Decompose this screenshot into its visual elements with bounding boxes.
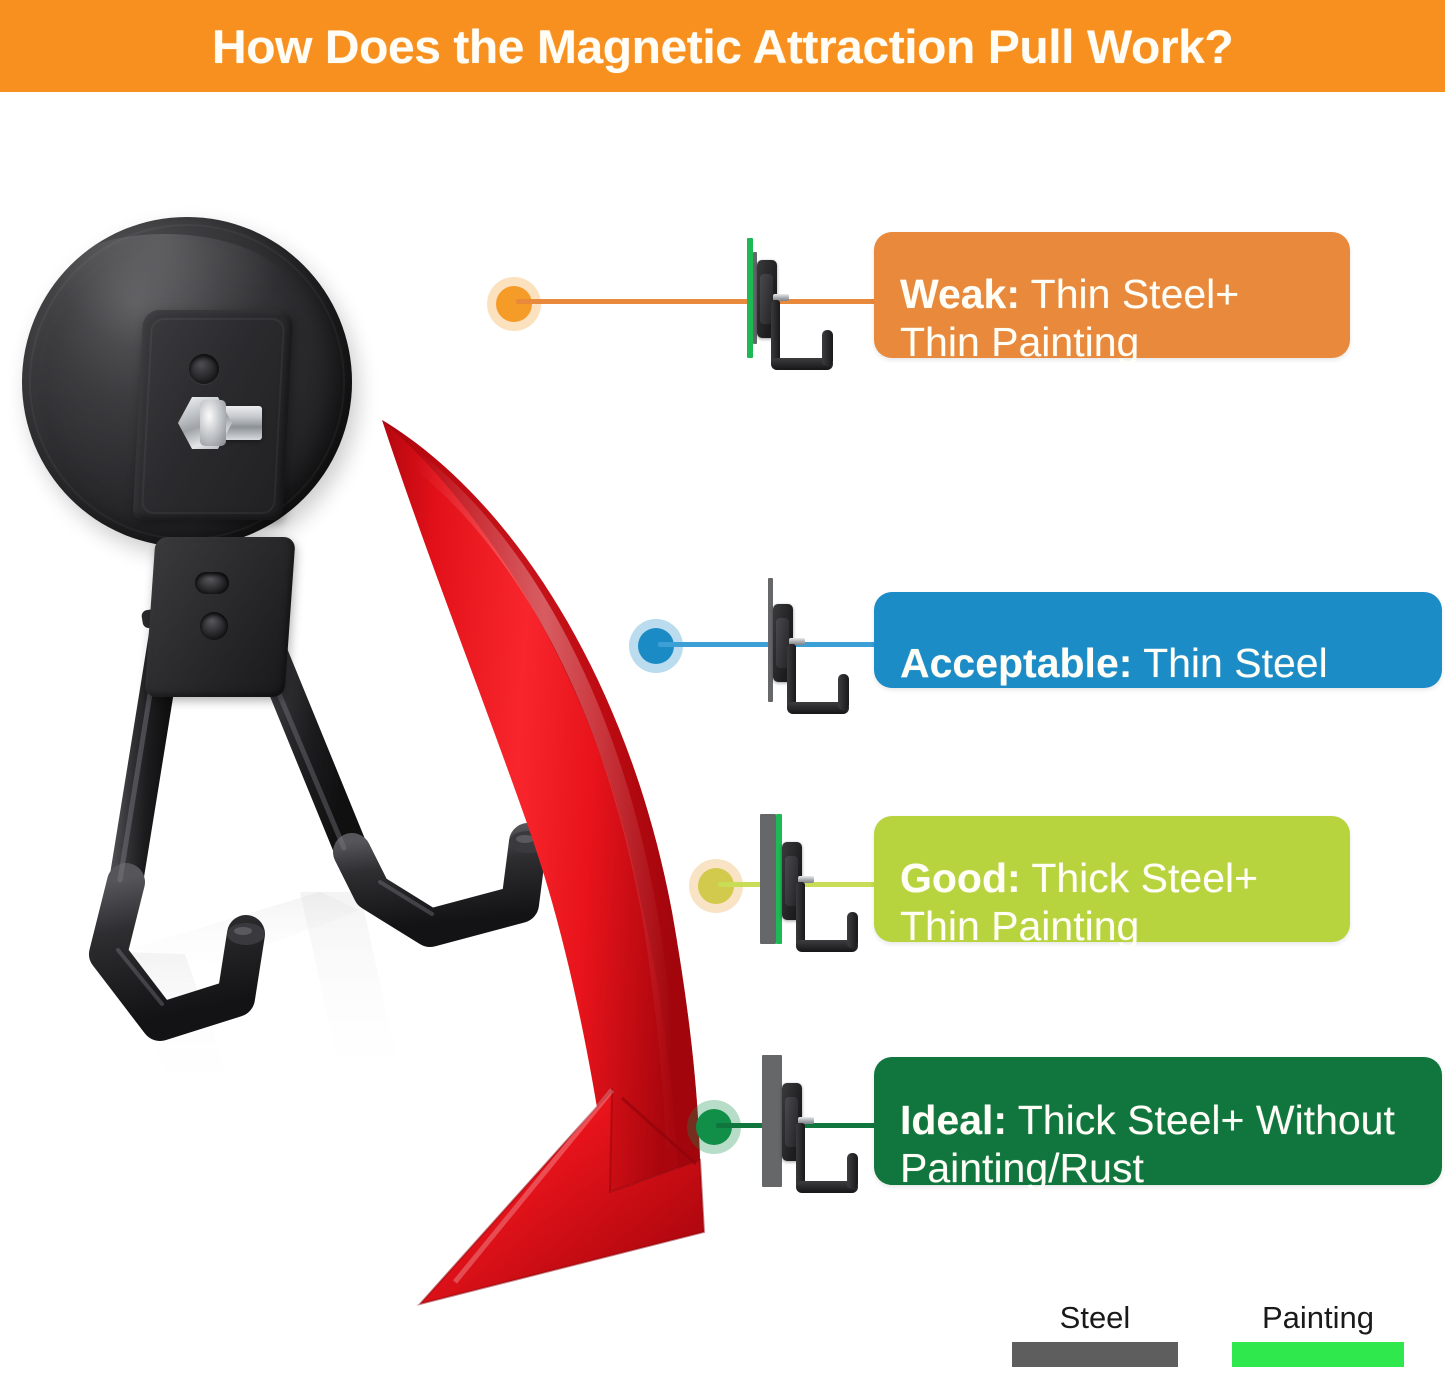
- hook-arm-icon: [771, 300, 780, 366]
- hook-tip-icon: [847, 1153, 858, 1189]
- steel-layer-icon: [762, 1055, 782, 1187]
- callout-box-good[interactable]: Good: Thick Steel+ Thin Painting: [874, 816, 1350, 942]
- hook-tip-icon: [822, 330, 833, 366]
- legend-swatch-steel: [1012, 1342, 1178, 1367]
- legend-label-steel: Steel: [990, 1300, 1200, 1336]
- hook-arm-icon: [796, 1123, 805, 1189]
- arm-round-hole: [200, 612, 228, 640]
- header-banner: How Does the Magnetic Attraction Pull Wo…: [0, 0, 1445, 92]
- page-title: How Does the Magnetic Attraction Pull Wo…: [212, 19, 1233, 74]
- callout-text-acceptable: Acceptable: Thin Steel: [900, 592, 1328, 688]
- callout-grade-weak: Weak:: [900, 271, 1020, 317]
- bolt-cap: [200, 400, 226, 446]
- callout-text-ideal: Ideal: Thick Steel+ Without Painting/Rus…: [900, 1049, 1395, 1193]
- hook-sample-ideal: [752, 1055, 872, 1215]
- hook-tip-icon: [838, 674, 849, 710]
- callout-box-ideal[interactable]: Ideal: Thick Steel+ Without Painting/Rus…: [874, 1057, 1442, 1185]
- infographic-stage: Weak: Thin Steel+ Thin Painting Acceptab…: [0, 92, 1445, 1390]
- legend-swatch-painting: [1232, 1342, 1404, 1367]
- callout-box-weak[interactable]: Weak: Thin Steel+ Thin Painting: [874, 232, 1350, 358]
- red-curved-down-arrow: [360, 292, 780, 1312]
- connector-dot-weak: [496, 286, 532, 322]
- hook-arm-icon: [787, 644, 796, 710]
- hook-tip-icon: [847, 912, 858, 948]
- callout-box-acceptable[interactable]: Acceptable: Thin Steel: [874, 592, 1442, 688]
- callout-text-good: Good: Thick Steel+ Thin Painting: [900, 807, 1258, 951]
- arm-slot-hole: [195, 572, 229, 594]
- legend-item-painting: Painting: [1208, 1300, 1428, 1367]
- hook-arm-icon: [796, 882, 805, 948]
- hook-sample-weak: [735, 238, 855, 398]
- callout-detail-acceptable: Thin Steel: [1132, 640, 1327, 686]
- connector-line-weak: [516, 299, 916, 304]
- callout-text-weak: Weak: Thin Steel+ Thin Painting: [900, 223, 1239, 367]
- plate-screw-hole: [189, 354, 219, 384]
- legend-item-steel: Steel: [990, 1300, 1200, 1367]
- steel-layer-icon: [760, 814, 776, 944]
- legend-label-painting: Painting: [1208, 1300, 1428, 1336]
- hook-sample-good: [752, 814, 872, 974]
- callout-grade-acceptable: Acceptable:: [900, 640, 1132, 686]
- hook-sample-acceptable: [752, 578, 872, 738]
- legend: Steel Painting: [990, 1300, 1445, 1390]
- callout-grade-ideal: Ideal:: [900, 1097, 1007, 1143]
- callout-grade-good: Good:: [900, 855, 1021, 901]
